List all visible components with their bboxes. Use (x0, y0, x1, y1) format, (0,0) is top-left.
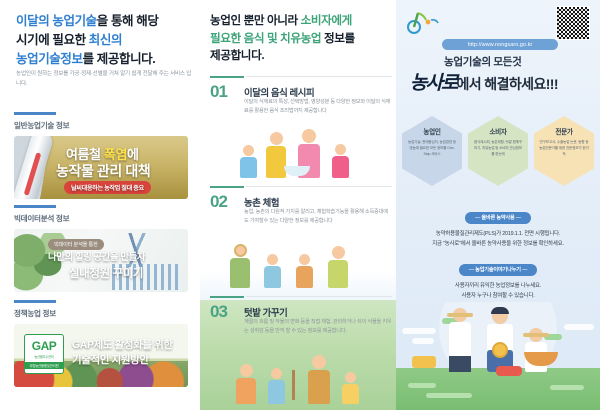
card-caption-badge: 날씨대응하는 농작업 절대 중요 (64, 181, 151, 194)
farmers-illustration (396, 302, 600, 410)
section-line2: 지금 "농사로"에서 올바른 농약사용을 위한 정보를 확인하세요. (432, 241, 564, 247)
left-headline-line1-highlight: 이달의 농업기술 (16, 14, 97, 28)
grass-dash (408, 383, 436, 388)
card-accent-bar (14, 205, 56, 208)
list-item-recipe[interactable]: 01 이달의 음식 레시피 이달의 식재료의 특성, 선택방법, 영양성분 등 … (210, 76, 392, 82)
nongsaro-logo-icon (404, 8, 444, 36)
item-divider (246, 76, 392, 77)
item-accent-bar (210, 296, 244, 298)
item-title: 이달의 음식 레시피 (244, 85, 314, 99)
card-accent-bar (14, 112, 56, 115)
item-divider (246, 186, 392, 187)
hex-title: 전문가 (555, 126, 572, 136)
section-body: 농약허용물질관리제도(PLS)가 2019.1.1. 전면 시행됩니다. 지금 … (402, 229, 594, 249)
left-column: 이달의 농업기술을 통해 해당 시기에 필요한 최신의 농업기술정보를 제공합니… (0, 0, 200, 410)
item-accent-bar (210, 186, 244, 188)
section-line1: 사용자끼리 유익한 농업정보를 나누세요. (455, 283, 541, 289)
tractor-icon (412, 356, 436, 368)
list-item-garden[interactable]: 03 텃밭 가꾸기 계절의 흐름 및 작물의 변화 등을 직접 체험, 관리하거… (210, 296, 392, 302)
card-caption-line2: 기술적인 지원방안 (72, 352, 149, 367)
hex-description: 음식레시피, 농촌체험, 텃밭 원예꾸미기, 치유농업 등 소비자 관심정보를 … (473, 140, 523, 157)
hex-title: 농업인 (423, 126, 440, 136)
hex-description: 연구보고서, 수출농업 논문, 동향 등 농업전문가를 위한 전문정보가 한가득 (539, 140, 589, 157)
item-number: 03 (210, 302, 227, 322)
item-description: 계절의 흐름 및 작물의 변화 등을 직접 체험, 관리하거나 쉬이 식물을 키… (244, 318, 392, 337)
hex-title: 소비자 (489, 126, 506, 136)
tagline-small: 농업기술의 모든것 (444, 54, 522, 69)
card-caption-line1: 나만의 힐링 공간을 만들자 (48, 249, 145, 263)
tagline-main: 농사로에서 해결하세요!!! (410, 68, 600, 95)
item-number: 02 (210, 192, 227, 212)
hex-expert[interactable]: 전문가 연구보고서, 수출농업 논문, 동향 등 농업전문가를 위한 전문정보가… (534, 116, 594, 186)
coin-icon (492, 342, 508, 358)
section-body: 사용자끼리 유익한 농업정보를 나누세요. 사용자 누구나 참여할 수 있습니다… (402, 281, 594, 301)
card-general-agri-tech[interactable]: 일반농업기술 정보 여름철 폭염에 농작물 관리 대책 날씨대응하는 농작업 절… (14, 112, 188, 199)
item-description: 이달의 식재료의 특성, 선택방법, 영양성분 등 다양한 정보와 이달의 식재… (244, 98, 392, 117)
farmer-figure-center (484, 308, 516, 372)
right-column: http://www.nongsaro.go.kr 농업기술의 모든것 농사로에… (396, 0, 600, 410)
hex-description: 농업기술, 판매중심지, 농업경영 등 영농에 필요한 모든 정보를 One-S… (407, 140, 457, 157)
middle-headline: 농업인 뿐만 아니라 소비자에게 필요한 음식 및 치유농업 정보를 제공합니다… (210, 12, 390, 65)
gap-logo-band: 국립농산물품질관리원 (25, 362, 63, 369)
hex-consumer[interactable]: 소비자 음식레시피, 농촌체험, 텃밭 원예꾸미기, 치유농업 등 소비자 관심… (468, 116, 528, 186)
toy-truck-icon (496, 366, 522, 376)
cloud-shape (412, 338, 434, 344)
left-headline-line2-rest: 시기에 필요한 (16, 33, 89, 47)
item-description: 농업, 농촌의 다원적 가치를 알리고, 체험학습기능을 활용해 소득증대에도 … (244, 208, 392, 227)
audience-hex-group: 농업인 농업기술, 판매중심지, 농업경영 등 영농에 필요한 모든 정보를 O… (402, 116, 594, 190)
item-number: 01 (210, 82, 227, 102)
cloud-shape (564, 324, 594, 330)
card-bigdata-analysis[interactable]: 빅데이터분석 정보 빅데이터 분석을 통한 나만의 힐링 공간을 만들자 실내정… (14, 205, 188, 292)
website-url[interactable]: http://www.nongsaro.go.kr (442, 39, 558, 50)
middle-headline-line1-highlight: 소비자에게 (301, 14, 352, 27)
card-thumbnail: GAP 농산물우수관리 국립농산물품질관리원 GAP제도 활성화를 위한 기술적… (14, 324, 188, 387)
middle-column: 농업인 뿐만 아니라 소비자에게 필요한 음식 및 치유농업 정보를 제공합니다… (200, 0, 396, 410)
rural-harvest-illustration (210, 226, 392, 288)
middle-headline-line3: 제공합니다. (210, 49, 264, 62)
farmer-figure-left (446, 308, 474, 372)
gap-certification-logo: GAP 농산물우수관리 국립농산물품질관리원 (24, 334, 64, 374)
gap-logo-subtext: 농산물우수관리 (34, 354, 53, 359)
card-thumbnail: 여름철 폭염에 농작물 관리 대책 날씨대응하는 농작업 절대 중요 (14, 136, 188, 199)
section-pill-label[interactable]: 농업기술이야기나누기 (459, 264, 537, 276)
grass-dash (426, 393, 472, 398)
section-line2: 사용자 누구나 참여할 수 있습니다. (461, 293, 534, 299)
middle-headline-line2-rest: 정보를 (321, 32, 355, 45)
card-category-label: 일반농업기술 정보 (14, 120, 188, 131)
section-community: 농업기술이야기나누기 사용자끼리 유익한 농업정보를 나누세요. 사용자 누구나… (402, 258, 594, 301)
card-category-label: 정책농업 정보 (14, 308, 188, 319)
left-headline-line2-highlight: 최신의 (89, 33, 122, 47)
middle-headline-line1-rest: 농업인 뿐만 아니라 (210, 14, 301, 27)
card-thumbnail: 빅데이터 분석을 통한 나만의 힐링 공간을 만들자 실내정원 꾸미기 (14, 229, 188, 292)
section-line1: 농약허용물질관리제도(PLS)가 2019.1.1. 전면 시행됩니다. (436, 231, 560, 237)
middle-headline-line2-highlight: 필요한 음식 및 치유농업 (210, 32, 321, 45)
left-headline-line1-rest: 을 통해 해당 (97, 14, 159, 28)
garden-planting-illustration (210, 338, 392, 404)
qr-code[interactable] (556, 6, 590, 40)
section-pill-label[interactable]: 올바른 농약사용 (465, 212, 531, 224)
item-title: 농촌 체험 (244, 195, 279, 209)
card-caption-line1: GAP제도 활성화를 위한 (72, 337, 173, 352)
left-headline-line3-rest: 를 제공합니다. (83, 52, 156, 66)
hex-farmer[interactable]: 농업인 농업기술, 판매중심지, 농업경영 등 영농에 필요한 모든 정보를 O… (402, 116, 462, 186)
item-title: 텃밭 가꾸기 (244, 305, 287, 319)
grass-dash (550, 385, 584, 390)
family-cooking-illustration (210, 116, 392, 178)
thermometer-icon (24, 152, 42, 196)
list-item-rural-experience[interactable]: 02 농촌 체험 농업, 농촌의 다원적 가치를 알리고, 체험학습기능을 활용… (210, 186, 392, 192)
card-category-label: 빅데이터분석 정보 (14, 213, 188, 224)
card-caption-line2: 농작물 관리 대책 (56, 161, 150, 181)
card-policy-agri[interactable]: 정책농업 정보 GAP 농산물우수관리 국립농산물품질관리원 GAP제도 활성화… (14, 300, 188, 387)
cloud-shape (402, 328, 436, 334)
tagline-brush-word: 농사로 (410, 73, 456, 94)
left-subtitle: 농업인이 원하는 정보를 가공·정제·선별을 거쳐 알기 쉽게 전달해 주는 서… (16, 70, 192, 90)
item-divider (246, 296, 392, 297)
tagline-rest: 에서 해결하세요!!! (456, 76, 557, 92)
card-caption-line2: 실내정원 꾸미기 (69, 265, 143, 281)
item-accent-bar (210, 76, 244, 78)
card-accent-bar (14, 300, 56, 303)
left-headline-line3-highlight: 농업기술정보 (16, 52, 83, 66)
gap-logo-text: GAP (32, 339, 57, 353)
section-pesticide-use: 올바른 농약사용 농약허용물질관리제도(PLS)가 2019.1.1. 전면 시… (402, 206, 594, 249)
brochure-page: 이달의 농업기술을 통해 해당 시기에 필요한 최신의 농업기술정보를 제공합니… (0, 0, 600, 410)
card-caption-badge: 빅데이터 분석을 통한 (48, 239, 104, 250)
left-headline: 이달의 농업기술을 통해 해당 시기에 필요한 최신의 농업기술정보를 제공합니… (16, 12, 194, 68)
